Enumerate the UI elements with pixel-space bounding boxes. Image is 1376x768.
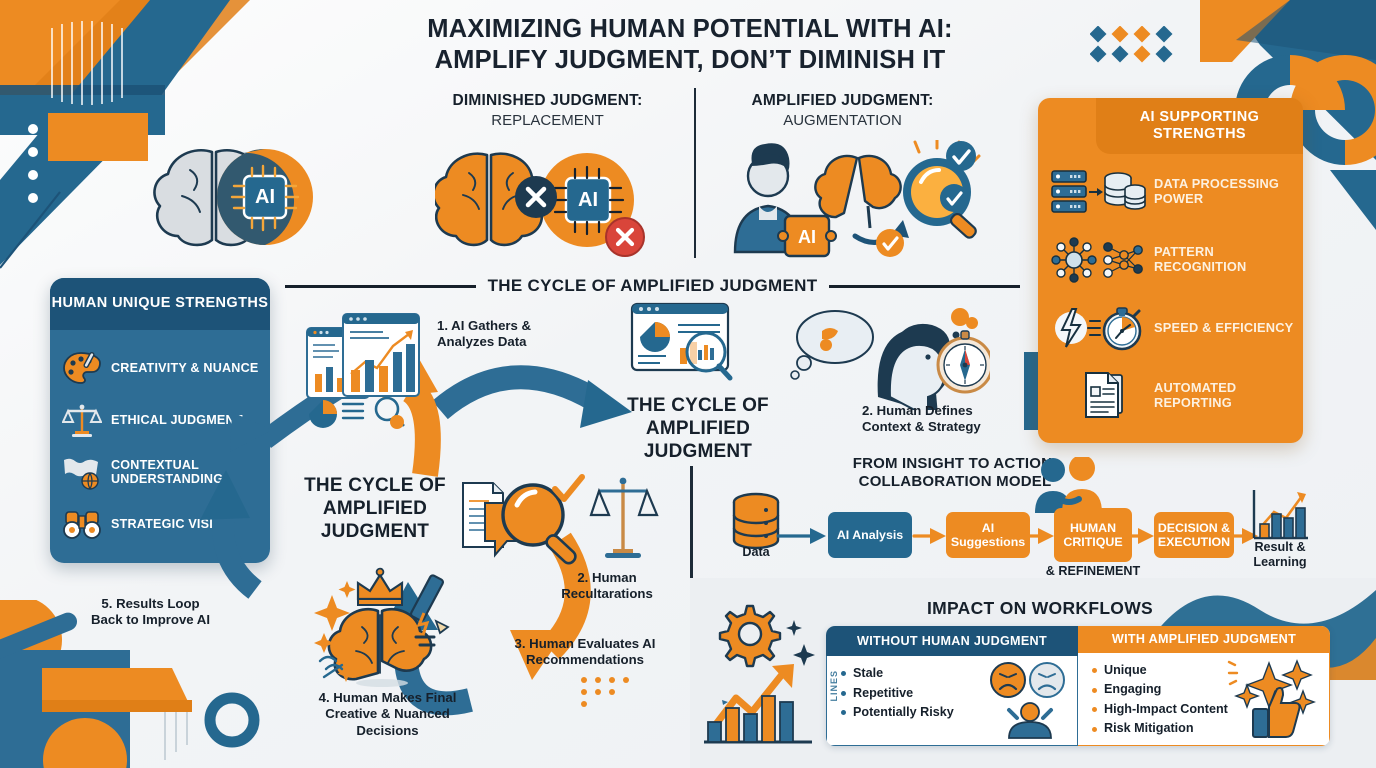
impact-column-without-body: LINES Stale Repetitive Potentially Risky (826, 656, 1078, 746)
collaboration-end-caption-line-2: Learning (1240, 555, 1320, 570)
cycle-step-4-label: 4. Human Makes Final Creative & Nuanced … (300, 690, 475, 739)
cycle-section-header: THE CYCLE OF AMPLIFIED JUDGMENT (285, 276, 1020, 296)
documents-icon (1050, 371, 1146, 421)
bullet-dot (1092, 727, 1097, 732)
decor-dot-grid (1090, 26, 1190, 66)
title-line-1: MAXIMIZING HUMAN POTENTIAL WITH AI: (390, 14, 990, 45)
impact-column-with-body: Unique Engaging High-Impact Content Risk… (1078, 653, 1330, 746)
scales-icon (591, 478, 657, 558)
ai-supporting-strengths-panel: AI SUPPORTING STRENGTHS (1038, 98, 1303, 443)
cycle-center-title-right: THE CYCLE OF AMPLIFIED JUDGMENT (618, 395, 778, 463)
impact-column-without: WITHOUT HUMAN JUDGMENT LINES Stale Repet… (826, 626, 1078, 746)
collaboration-end-caption-line-1: Result & (1240, 540, 1320, 555)
gear-growth-icon (700, 604, 820, 749)
ai-strengths-list: DATA PROCESSING POWER (1038, 158, 1303, 430)
list-item[interactable]: DATA PROCESSING POWER (1038, 158, 1303, 226)
bullet-dot (841, 710, 846, 715)
cycle-center-title-left: THE CYCLE OF AMPLIFIED JUDGMENT (290, 475, 460, 543)
cycle-rule-right (829, 285, 1020, 288)
list-item-label: AUTOMATED REPORTING (1154, 381, 1303, 410)
list-item-label: Repetitive (853, 684, 913, 704)
list-item-label: Stale (853, 664, 883, 684)
impact-column-without-header: WITHOUT HUMAN JUDGMENT (826, 626, 1078, 656)
bullet-dot (1092, 668, 1097, 673)
cycle-rule-left (285, 285, 476, 288)
brain-ai-chip-icon: AI (130, 140, 320, 255)
title-line-2: AMPLIFY JUDGMENT, DON’T DIMINISH IT (390, 45, 990, 76)
sparkle-icon (786, 620, 815, 666)
impact-column-with: WITH AMPLIFIED JUDGMENT Unique Engaging … (1078, 626, 1330, 746)
impact-column-with-header: WITH AMPLIFIED JUDGMENT (1078, 626, 1330, 653)
list-item[interactable]: SPEED & EFFICIENCY (1038, 294, 1303, 362)
amplified-judgment-illustration: AI (705, 140, 985, 260)
subhead-diminished-title: DIMINISHED JUDGMENT: (400, 92, 695, 110)
ai-badge: AI (778, 216, 836, 256)
globe-map-icon (62, 454, 102, 490)
flow-step-decision-execution[interactable]: DECISION & EXECUTION (1154, 512, 1234, 558)
flow-step-human-critique[interactable]: HUMAN CRITIQUE (1054, 508, 1132, 562)
check-icon (940, 184, 968, 212)
cycle-center-dashboard-icon (630, 300, 740, 395)
list-item[interactable]: PATTERN RECOGNITION (1038, 226, 1303, 294)
stopwatch-bolt-icon (1050, 303, 1146, 353)
bullet-dot (841, 691, 846, 696)
svg-text:AI: AI (798, 227, 816, 247)
negative-emoji-icons (987, 660, 1073, 740)
check-icon (946, 141, 976, 171)
head-compass-icon (790, 305, 990, 410)
thumbs-up-icon (1253, 688, 1300, 737)
cycle-step-5-label: 5. Results Loop Back to Improve AI (88, 596, 213, 629)
list-item-label: Engaging (1104, 680, 1161, 700)
positive-icons (1227, 655, 1327, 741)
person-down-icon (1009, 703, 1051, 738)
list-item-label: SPEED & EFFICIENCY (1154, 321, 1293, 336)
subhead-amplified-subtitle: AUGMENTATION (695, 112, 990, 129)
infographic-canvas: MAXIMIZING HUMAN POTENTIAL WITH AI: AMPL… (0, 0, 1376, 768)
magnifier-scales-icon (455, 465, 670, 580)
server-database-icon (1050, 167, 1146, 217)
list-item-label: PATTERN RECOGNITION (1154, 245, 1303, 274)
ai-strengths-header: AI SUPPORTING STRENGTHS (1096, 98, 1303, 154)
crown-icon (358, 569, 402, 605)
flow-step-human-critique-caption: & REFINEMENT (1044, 564, 1142, 579)
subhead-amplified-title: AMPLIFIED JUDGMENT: (695, 92, 990, 110)
thought-cloud (791, 311, 873, 379)
growth-chart-icon (1248, 486, 1312, 548)
page-title: MAXIMIZING HUMAN POTENTIAL WITH AI: AMPL… (390, 14, 990, 76)
list-item-label: Potentially Risky (853, 703, 954, 723)
bullet-dot (1092, 707, 1097, 712)
subhead-divider (694, 88, 696, 258)
cycle-section-title: THE CYCLE OF AMPLIFIED JUDGMENT (488, 276, 818, 296)
impact-side-label: LINES (829, 670, 839, 702)
binoculars-icon (62, 506, 102, 542)
impact-title: IMPACT ON WORKFLOWS (830, 598, 1250, 619)
palette-icon (62, 350, 102, 386)
list-item-label: Unique (1104, 661, 1147, 681)
neutral-face-icon (1030, 663, 1064, 697)
cycle-step-2b-label: 2. Human Recultarations (552, 570, 662, 603)
subhead-amplified: AMPLIFIED JUDGMENT: AUGMENTATION (695, 92, 990, 129)
list-item-label: DATA PROCESSING POWER (1154, 177, 1303, 206)
subhead-diminished-subtitle: REPLACEMENT (400, 112, 695, 129)
gear-icon (720, 606, 780, 666)
list-item[interactable]: AUTOMATED REPORTING (1038, 362, 1303, 430)
ai-strengths-title: AI SUPPORTING STRENGTHS (1096, 109, 1303, 143)
cycle-step-2-label: 2. Human Defines Context & Strategy (862, 403, 1012, 436)
x-mark-icon (515, 176, 557, 218)
scales-icon (62, 402, 102, 438)
cycle-step-3-label: 3. Human Evaluates AI Recommendations (505, 636, 665, 669)
collaboration-end-caption: Result & Learning (1240, 540, 1320, 570)
diminished-judgment-illustration: AI (435, 145, 660, 260)
flow-step-ai-suggestions[interactable]: AI Suggestions (946, 512, 1030, 558)
sad-face-icon (991, 663, 1025, 697)
bullet-dot (1092, 688, 1097, 693)
dashboard-charts-icon (305, 312, 435, 442)
svg-text:AI: AI (255, 186, 275, 208)
svg-text:AI: AI (578, 189, 598, 211)
list-item-label: High-Impact Content (1104, 700, 1228, 720)
subhead-diminished: DIMINISHED JUDGMENT: REPLACEMENT (400, 92, 695, 129)
red-x-icon (606, 218, 644, 256)
impact-comparison-table: WITHOUT HUMAN JUDGMENT LINES Stale Repet… (826, 626, 1330, 746)
collaboration-flow: AI Analysis AI Suggestions HUMAN CRITIQU… (718, 500, 1318, 578)
cycle-step-1-label: 1. AI Gathers & Analyzes Data (437, 318, 562, 351)
flow-step-ai-analysis[interactable]: AI Analysis (828, 512, 912, 558)
list-item-label: Risk Mitigation (1104, 719, 1194, 739)
crowned-brain-icon (300, 565, 465, 695)
neural-network-icon (1050, 235, 1146, 285)
bullet-dot (841, 671, 846, 676)
check-icon (876, 229, 904, 257)
